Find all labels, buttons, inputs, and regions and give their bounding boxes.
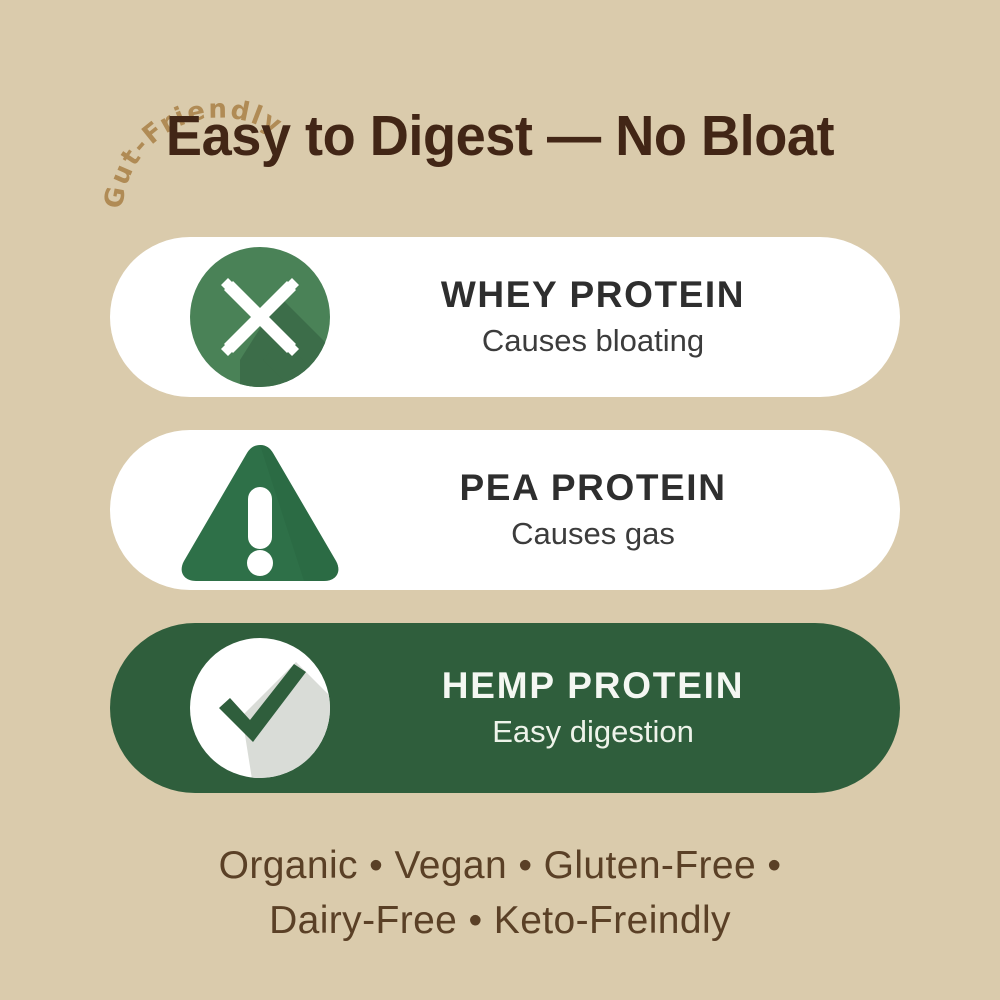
card-text-block: PEA PROTEIN Causes gas (350, 469, 900, 552)
certification-line-1: Organic • Vegan • Gluten-Free • (0, 838, 1000, 893)
comparison-card-list: WHEY PROTEIN Causes bloating PEA PROTEIN… (110, 237, 900, 826)
card-subtitle: Easy digestion (492, 715, 694, 749)
certification-footer: Organic • Vegan • Gluten-Free • Dairy-Fr… (0, 838, 1000, 949)
x-mark-circle-icon (185, 242, 335, 392)
card-text-block: WHEY PROTEIN Causes bloating (350, 276, 900, 359)
comparison-card-pea[interactable]: PEA PROTEIN Causes gas (110, 430, 900, 590)
infographic-poster: Gut-Friendly Easy to Digest — No Bloat (0, 0, 1000, 1000)
card-icon-slot (170, 237, 350, 397)
card-text-block: HEMP PROTEIN Easy digestion (350, 667, 900, 750)
comparison-card-whey[interactable]: WHEY PROTEIN Causes bloating (110, 237, 900, 397)
page-title: Easy to Digest — No Bloat (25, 103, 975, 169)
card-icon-slot (170, 623, 350, 793)
card-subtitle: Causes gas (511, 517, 675, 551)
card-title: PEA PROTEIN (459, 469, 726, 508)
comparison-card-hemp[interactable]: HEMP PROTEIN Easy digestion (110, 623, 900, 793)
card-title: WHEY PROTEIN (441, 276, 745, 315)
check-circle-icon (184, 632, 336, 784)
card-subtitle: Causes bloating (482, 324, 704, 358)
card-title: HEMP PROTEIN (442, 667, 745, 706)
certification-line-2: Dairy-Free • Keto-Freindly (0, 893, 1000, 948)
header: Gut-Friendly Easy to Digest — No Bloat (0, 0, 1000, 230)
card-icon-slot (170, 430, 350, 590)
warning-triangle-icon (176, 435, 344, 585)
